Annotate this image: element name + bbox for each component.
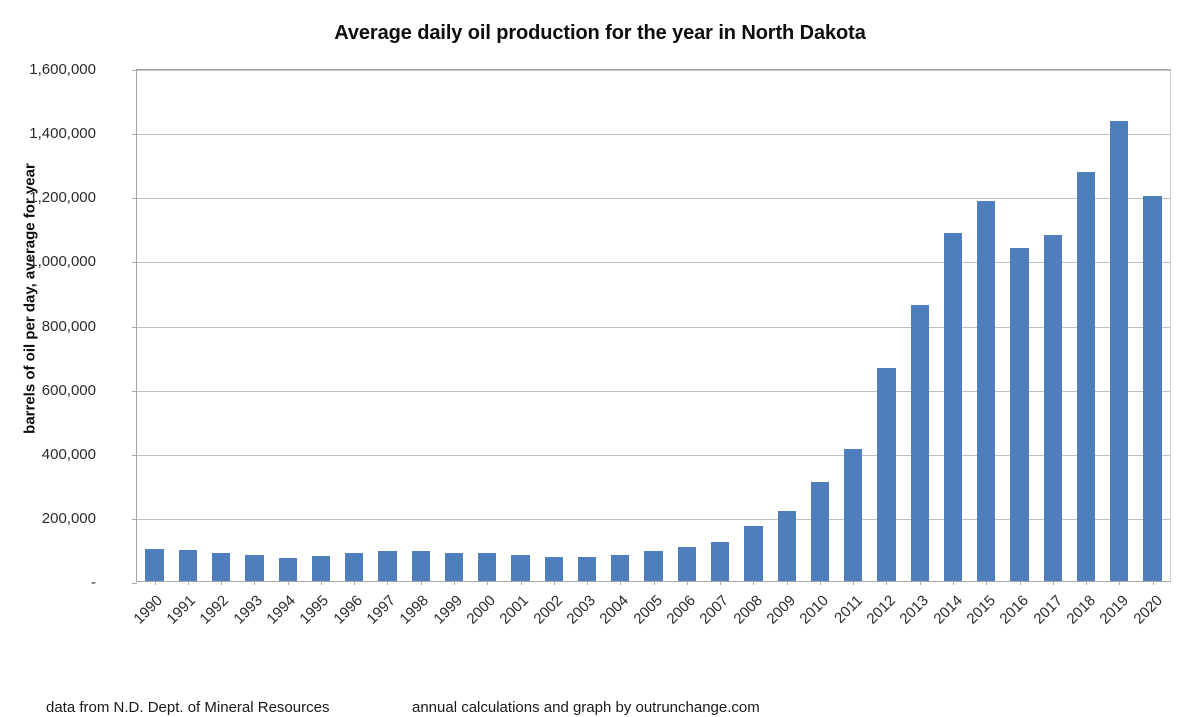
bar-slot	[903, 70, 936, 581]
bar-slot	[138, 70, 171, 581]
bar[interactable]	[545, 557, 563, 581]
y-tick-label: 800,000	[6, 318, 96, 335]
bar-slot	[1103, 70, 1136, 581]
bar[interactable]	[179, 550, 197, 581]
bar-slot	[1036, 70, 1069, 581]
bar[interactable]	[145, 549, 163, 581]
x-axis-labels: 1990199119921993199419951996199719981999…	[136, 586, 1171, 646]
x-tick-mark	[454, 581, 455, 585]
bar[interactable]	[279, 558, 297, 581]
bar-slot	[238, 70, 271, 581]
bar[interactable]	[478, 553, 496, 581]
bar-slot	[570, 70, 603, 581]
y-tick-label: 1,400,000	[6, 125, 96, 142]
x-tick-mark	[753, 581, 754, 585]
bar-slot	[870, 70, 903, 581]
x-tick-mark	[1020, 581, 1021, 585]
x-tick-mark	[387, 581, 388, 585]
y-tick-mark	[132, 583, 137, 584]
bar[interactable]	[1044, 235, 1062, 581]
chart-title: Average daily oil production for the yea…	[0, 22, 1200, 45]
bar-slot	[704, 70, 737, 581]
x-tick-mark	[587, 581, 588, 585]
bar-slot	[504, 70, 537, 581]
bar-slot	[1003, 70, 1036, 581]
bar[interactable]	[911, 305, 929, 581]
bar[interactable]	[212, 553, 230, 581]
bar-slot	[837, 70, 870, 581]
x-tick-mark	[720, 581, 721, 585]
y-tick-label: -	[6, 574, 96, 591]
x-tick-mark	[886, 581, 887, 585]
x-tick-mark	[986, 581, 987, 585]
x-tick-mark	[554, 581, 555, 585]
bar[interactable]	[245, 555, 263, 581]
x-tick-mark	[953, 581, 954, 585]
x-tick-mark	[620, 581, 621, 585]
bar[interactable]	[611, 555, 629, 581]
bar-slot	[604, 70, 637, 581]
x-tick-mark	[155, 581, 156, 585]
x-tick-mark	[820, 581, 821, 585]
bar-slot	[670, 70, 703, 581]
y-tick-label: 200,000	[6, 510, 96, 527]
y-tick-label: 400,000	[6, 446, 96, 463]
bar-slot	[803, 70, 836, 581]
bar-slot	[637, 70, 670, 581]
bar[interactable]	[678, 547, 696, 581]
x-tick-mark	[221, 581, 222, 585]
x-tick-mark	[1153, 581, 1154, 585]
x-tick-mark	[1119, 581, 1120, 585]
x-tick-mark	[1086, 581, 1087, 585]
bar-slot	[371, 70, 404, 581]
footer-source: data from N.D. Dept. of Mineral Resource…	[46, 699, 329, 716]
bar[interactable]	[578, 557, 596, 581]
x-tick-mark	[421, 581, 422, 585]
bar-slot	[205, 70, 238, 581]
footer-credit: annual calculations and graph by outrunc…	[412, 699, 760, 716]
x-tick-mark	[521, 581, 522, 585]
bar[interactable]	[378, 551, 396, 581]
x-tick-mark	[487, 581, 488, 585]
bar[interactable]	[312, 556, 330, 581]
y-tick-label: 1,200,000	[6, 189, 96, 206]
y-tick-label: 600,000	[6, 382, 96, 399]
bar-slot	[437, 70, 470, 581]
bar-slot	[537, 70, 570, 581]
x-tick-mark	[1053, 581, 1054, 585]
chart-container: Average daily oil production for the yea…	[0, 0, 1200, 717]
bar[interactable]	[711, 542, 729, 581]
bar-slot	[338, 70, 371, 581]
x-tick-mark	[787, 581, 788, 585]
bar-slot	[471, 70, 504, 581]
bar[interactable]	[412, 551, 430, 581]
y-tick-label: 1,600,000	[6, 61, 96, 78]
bar[interactable]	[744, 526, 762, 581]
bar[interactable]	[778, 511, 796, 581]
bar-slot	[970, 70, 1003, 581]
x-tick-mark	[920, 581, 921, 585]
bars-group	[137, 70, 1170, 581]
bar[interactable]	[445, 553, 463, 581]
bar-slot	[271, 70, 304, 581]
bar[interactable]	[1110, 121, 1128, 581]
bar[interactable]	[944, 233, 962, 581]
bar-slot	[171, 70, 204, 581]
bar[interactable]	[1143, 196, 1161, 581]
y-tick-label: 1,000,000	[6, 253, 96, 270]
bar[interactable]	[1077, 172, 1095, 581]
x-tick-mark	[321, 581, 322, 585]
bar[interactable]	[877, 368, 895, 581]
plot-area: 1,600,0001,400,0001,200,0001,000,000800,…	[136, 69, 1171, 582]
x-tick-mark	[853, 581, 854, 585]
x-tick-mark	[354, 581, 355, 585]
bar[interactable]	[644, 551, 662, 581]
bar-slot	[936, 70, 969, 581]
x-tick-mark	[654, 581, 655, 585]
bar-slot	[1136, 70, 1169, 581]
bar-slot	[404, 70, 437, 581]
x-tick-mark	[687, 581, 688, 585]
x-label-slot: 2020	[1137, 586, 1170, 646]
bar-slot	[737, 70, 770, 581]
bar[interactable]	[977, 201, 995, 581]
x-tick-label: 1990	[130, 592, 166, 628]
bar[interactable]	[345, 553, 363, 581]
x-tick-mark	[254, 581, 255, 585]
y-axis-title: barrels of oil per day, average for year	[22, 99, 39, 499]
bar[interactable]	[844, 449, 862, 581]
bar-slot	[770, 70, 803, 581]
x-tick-label: 2011	[831, 592, 866, 627]
x-tick-mark	[288, 581, 289, 585]
bar[interactable]	[1010, 248, 1028, 581]
x-tick-mark	[188, 581, 189, 585]
bar-slot	[304, 70, 337, 581]
bar-slot	[1069, 70, 1102, 581]
bar[interactable]	[511, 555, 529, 581]
bar[interactable]	[811, 482, 829, 581]
